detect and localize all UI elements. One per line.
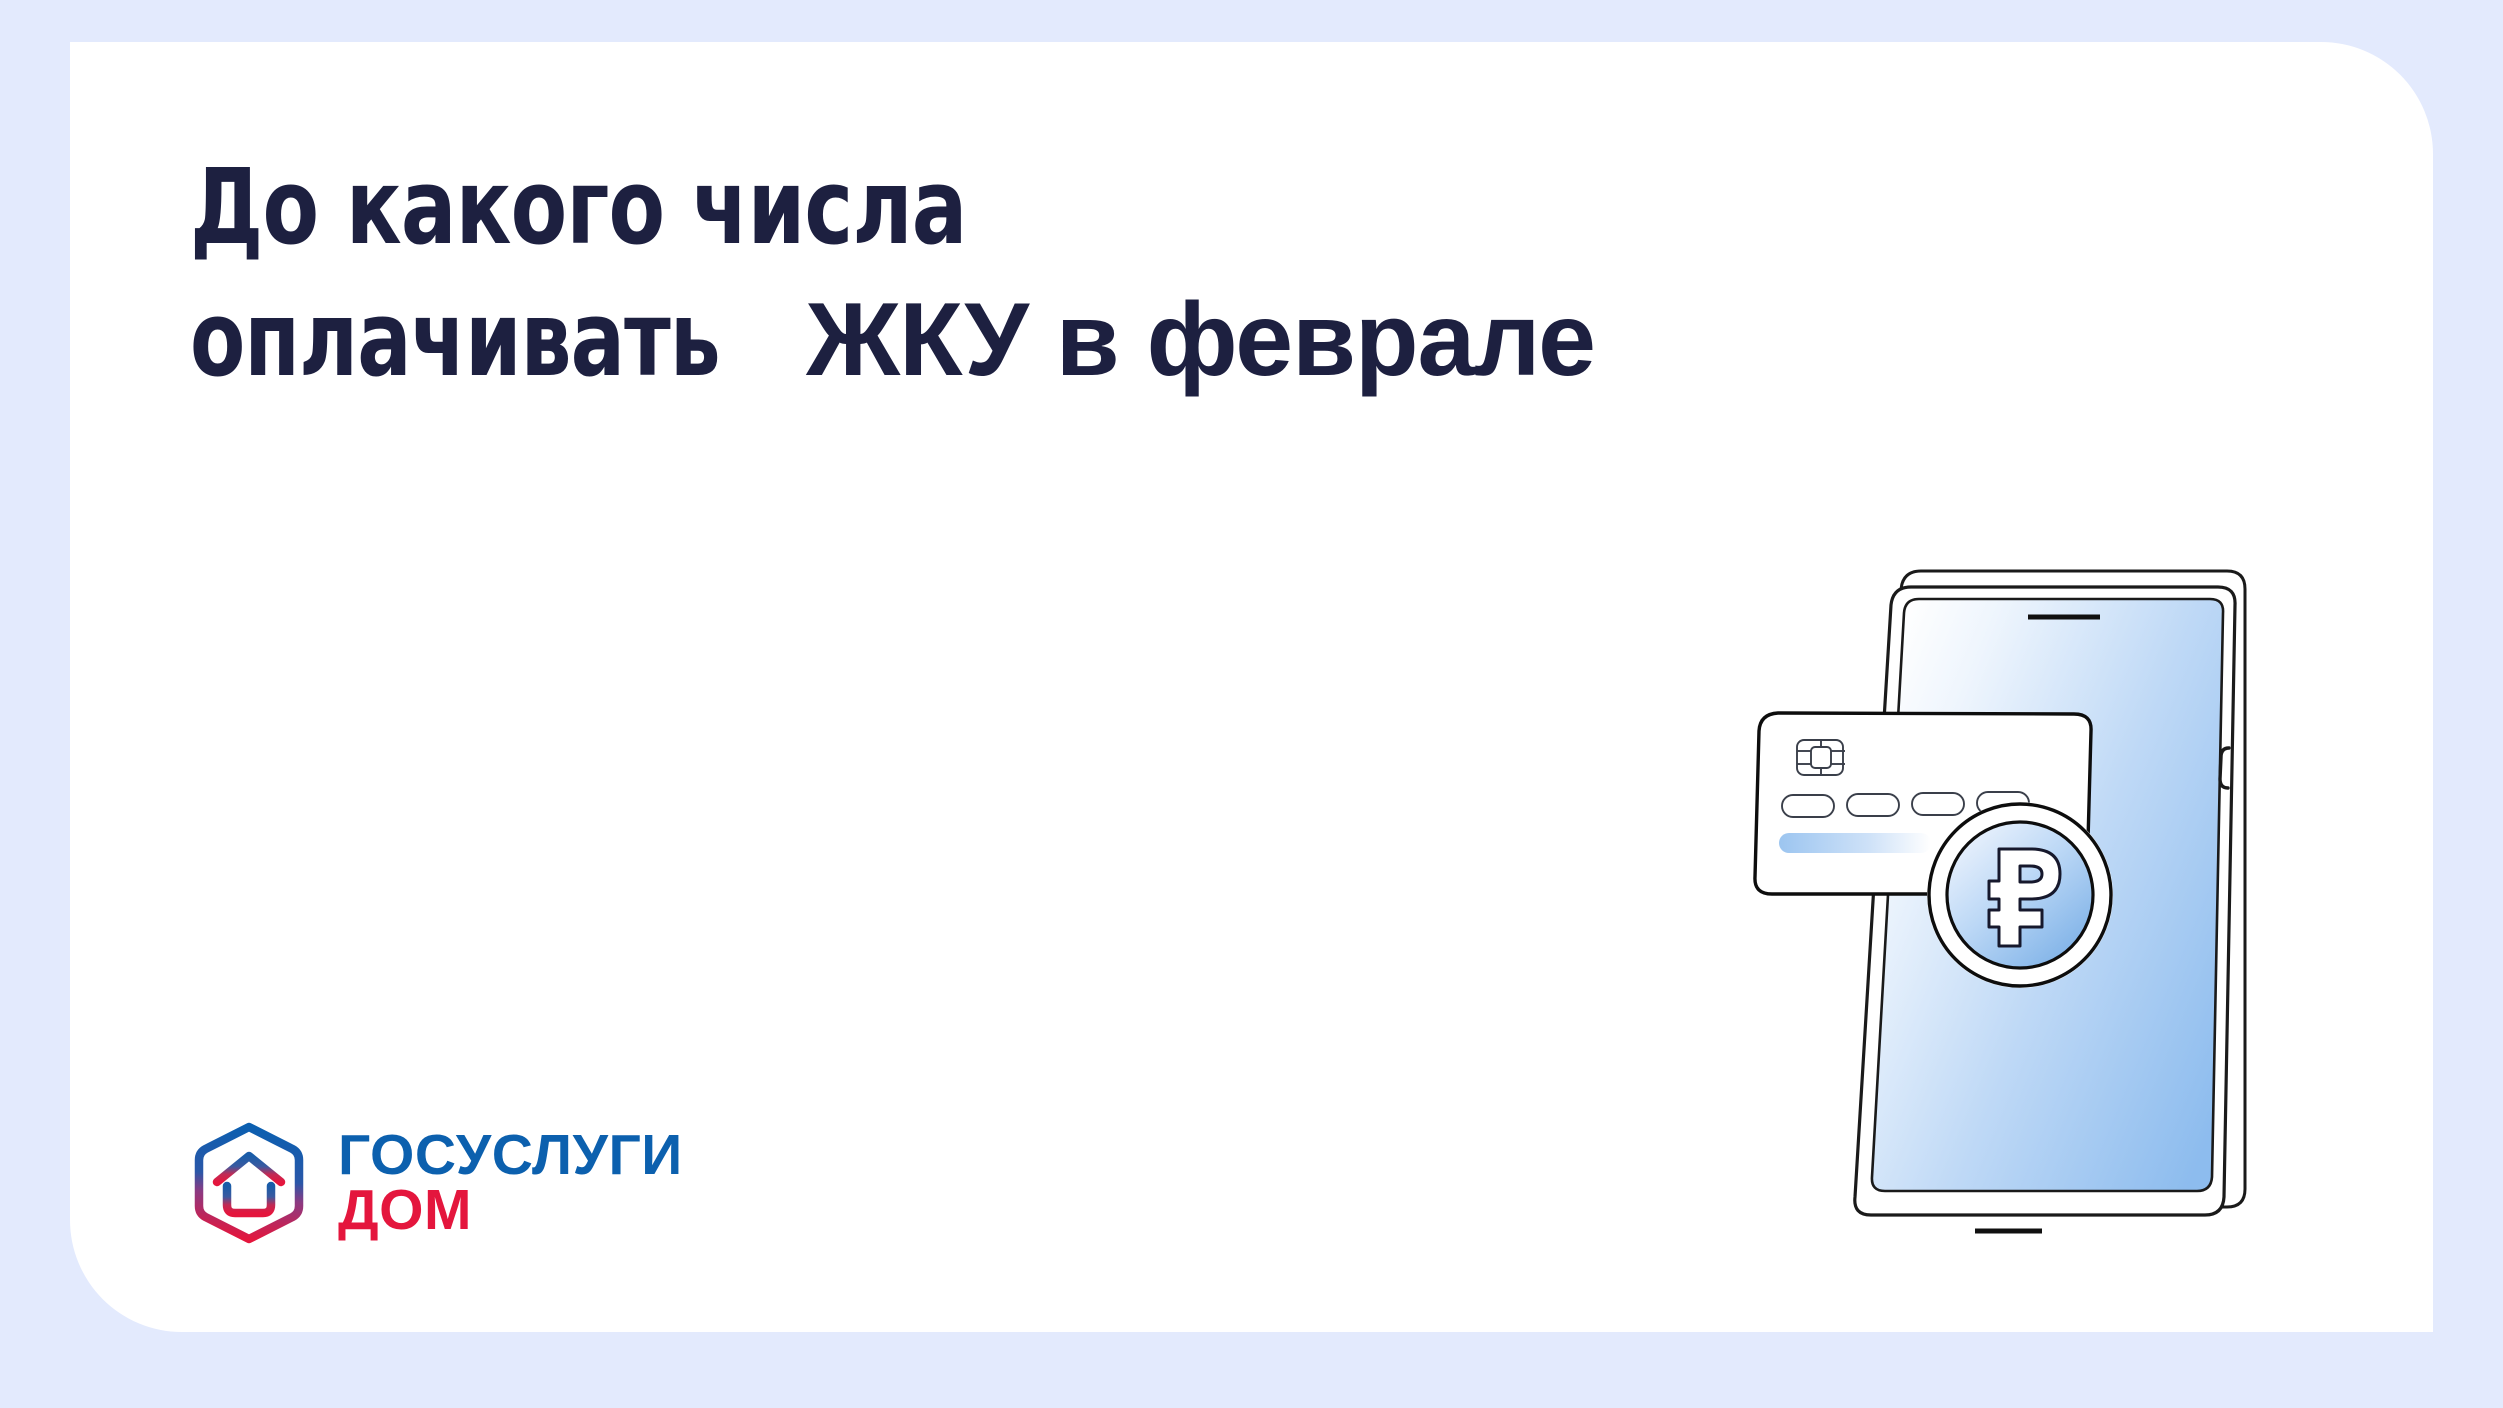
page-title: До какого числа оплачивать ЖКУ в феврале [190, 155, 1595, 392]
headline-line-2-wide: ЖКУ в феврале [806, 288, 1595, 392]
logo-word-dom: ДОМ [338, 1183, 683, 1238]
headline-line-2: оплачивать ЖКУ в феврале [190, 287, 1595, 392]
headline-line-2-narrow: оплачивать [190, 287, 720, 391]
ruble-coin [1927, 802, 2113, 988]
card-stripe [1779, 833, 1931, 853]
phone-card-coin-illustration [1735, 565, 2295, 1305]
gosuslugi-dom-house-hexagon-icon [186, 1120, 312, 1246]
logo-wordmark: ГОСУСЛУГИ ДОМ [338, 1128, 683, 1237]
headline-line-1: До какого числа [190, 155, 1426, 259]
brand-logo[interactable]: ГОСУСЛУГИ ДОМ [186, 1120, 683, 1246]
logo-word-gosuslugi: ГОСУСЛУГИ [338, 1128, 683, 1183]
poster-canvas: До какого числа оплачивать ЖКУ в феврале [0, 0, 2503, 1408]
